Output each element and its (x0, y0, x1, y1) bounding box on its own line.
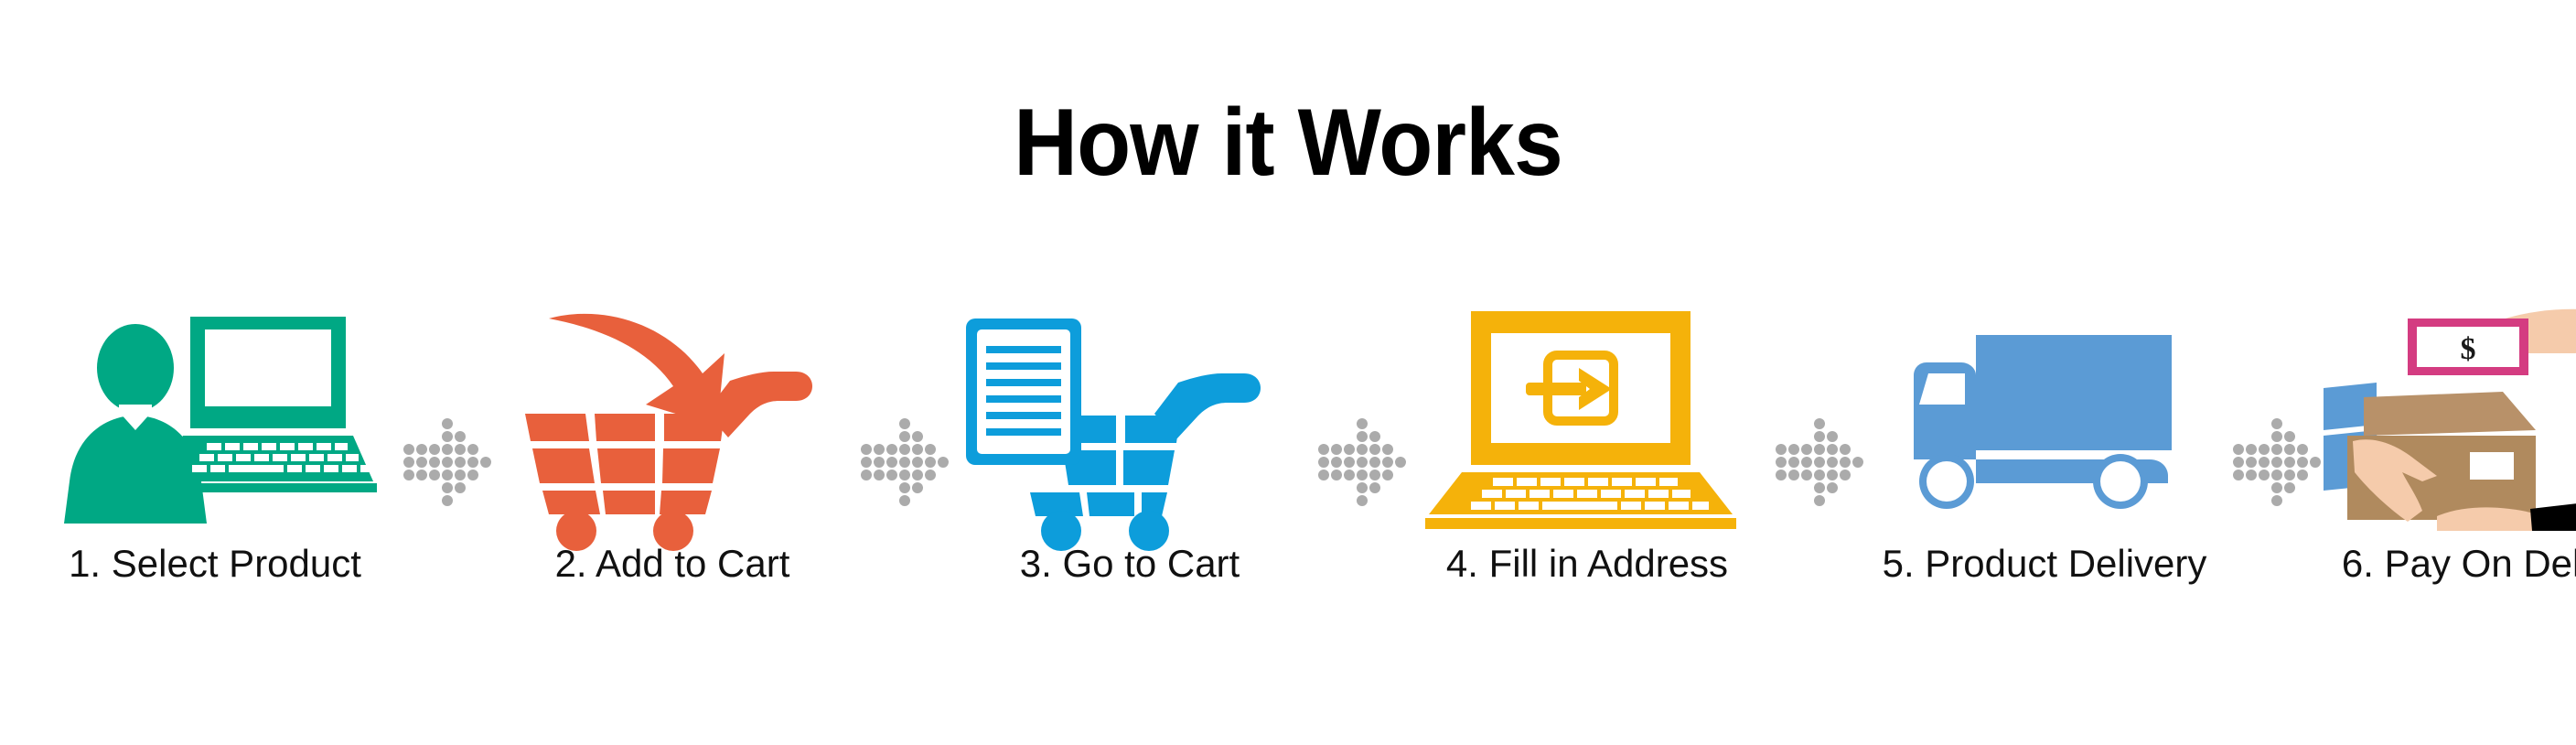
step-1-select-product[interactable]: 1. Select Product (37, 302, 393, 632)
how-it-works-infographic: How it Works (0, 0, 2576, 745)
dotted-arrow-right-icon (855, 416, 947, 490)
dotted-arrow-right-icon (1313, 416, 1404, 490)
dollar-sign-label: $ (2461, 332, 2476, 366)
step-3-go-to-cart[interactable]: 3. Go to Cart (951, 302, 1308, 632)
step-1-icon-area (37, 302, 393, 531)
step-6-label: 6. Pay On Delivery (2342, 542, 2576, 586)
separator-4 (1766, 339, 1866, 567)
hands-box-money-icon: $ (2324, 302, 2576, 531)
person-laptop-icon (37, 302, 393, 531)
step-6-pay-on-delivery[interactable]: $ 6. Pay (2324, 302, 2576, 632)
separator-5 (2223, 339, 2324, 567)
separator-2 (851, 339, 951, 567)
cart-document-icon (951, 302, 1308, 531)
step-2-icon-area (494, 302, 851, 531)
step-3-icon-area (951, 302, 1308, 531)
step-5-label: 5. Product Delivery (1883, 542, 2207, 586)
laptop-login-icon (1409, 302, 1766, 531)
separator-3 (1308, 339, 1409, 567)
step-5-icon-area (1866, 302, 2223, 531)
page-title: How it Works (91, 95, 2486, 190)
cart-arrow-in-icon (494, 302, 851, 531)
step-6-icon-area: $ (2324, 302, 2576, 531)
separator-1 (393, 339, 494, 567)
delivery-truck-icon (1866, 302, 2223, 531)
step-4-label: 4. Fill in Address (1446, 542, 1728, 586)
step-5-product-delivery[interactable]: 5. Product Delivery (1866, 302, 2223, 632)
step-4-icon-area (1409, 302, 1766, 531)
step-4-fill-in-address[interactable]: 4. Fill in Address (1409, 302, 1766, 632)
step-2-add-to-cart[interactable]: 2. Add to Cart (494, 302, 851, 632)
step-1-label: 1. Select Product (69, 542, 361, 586)
steps-container: 1. Select Product (37, 302, 2543, 632)
dotted-arrow-right-icon (1770, 416, 1862, 490)
dotted-arrow-right-icon (2227, 416, 2319, 490)
dotted-arrow-right-icon (398, 416, 489, 490)
